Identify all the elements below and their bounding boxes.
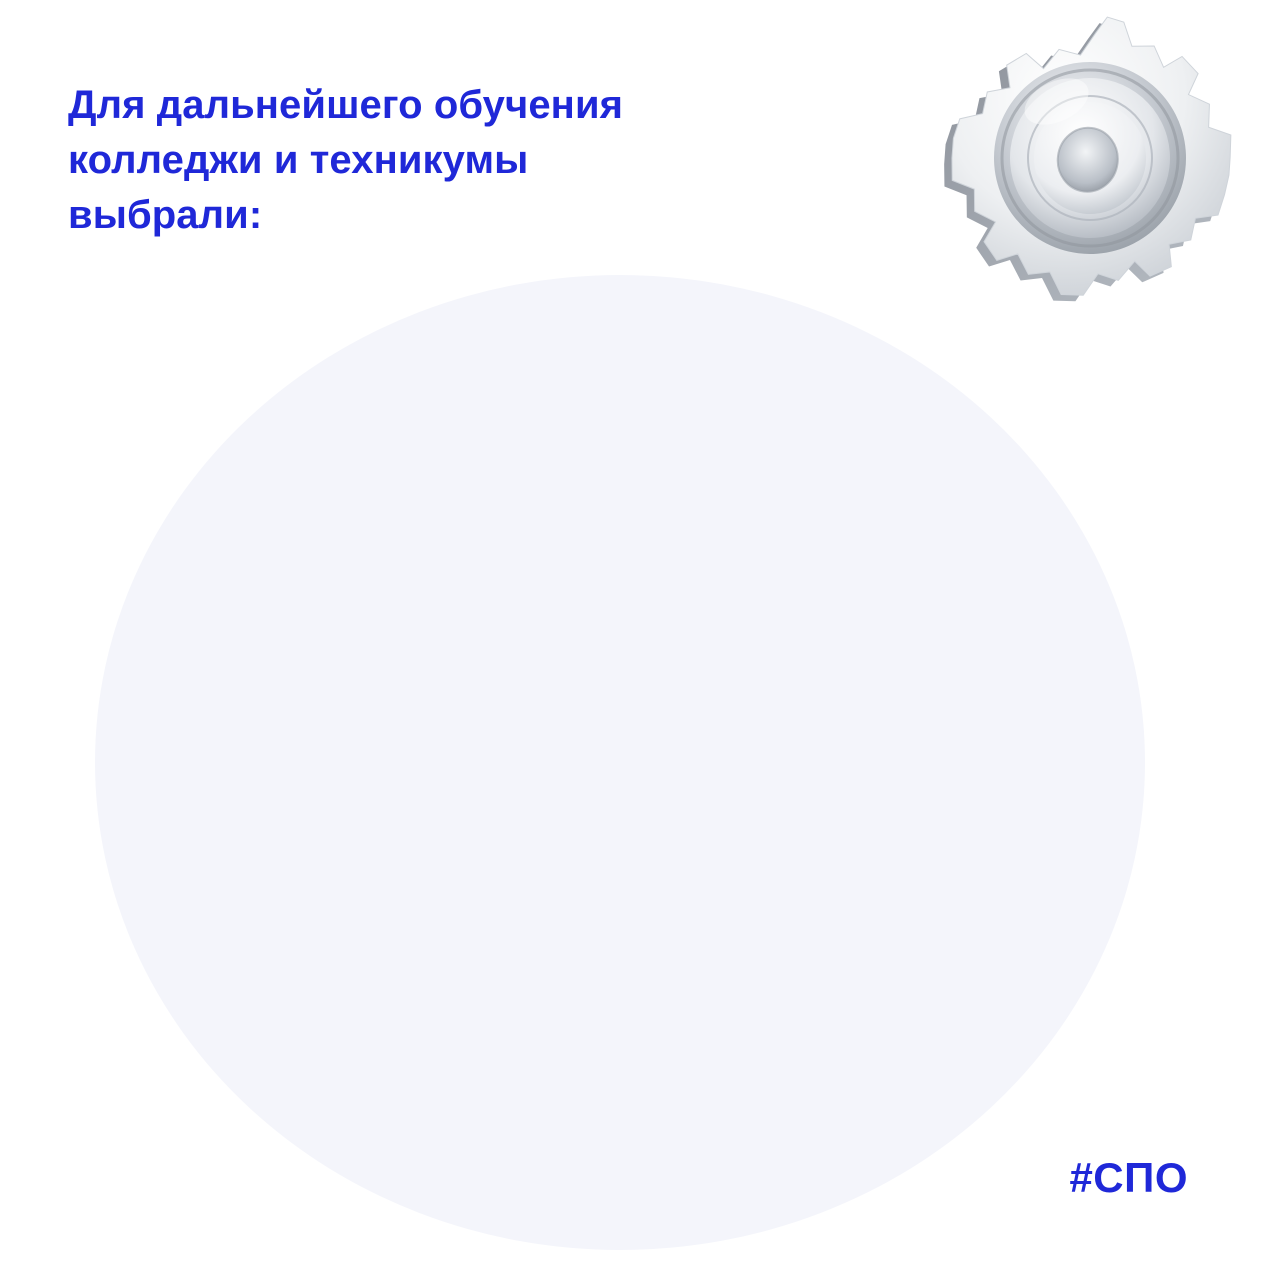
bar-chart: 48% 2018 девятиклассников 63% 2025 девят…: [0, 0, 1280, 1280]
infographic-canvas: Для дальнейшего обучения колледжи и техн…: [0, 0, 1280, 1280]
hashtag-label: #СПО: [1069, 1154, 1188, 1202]
